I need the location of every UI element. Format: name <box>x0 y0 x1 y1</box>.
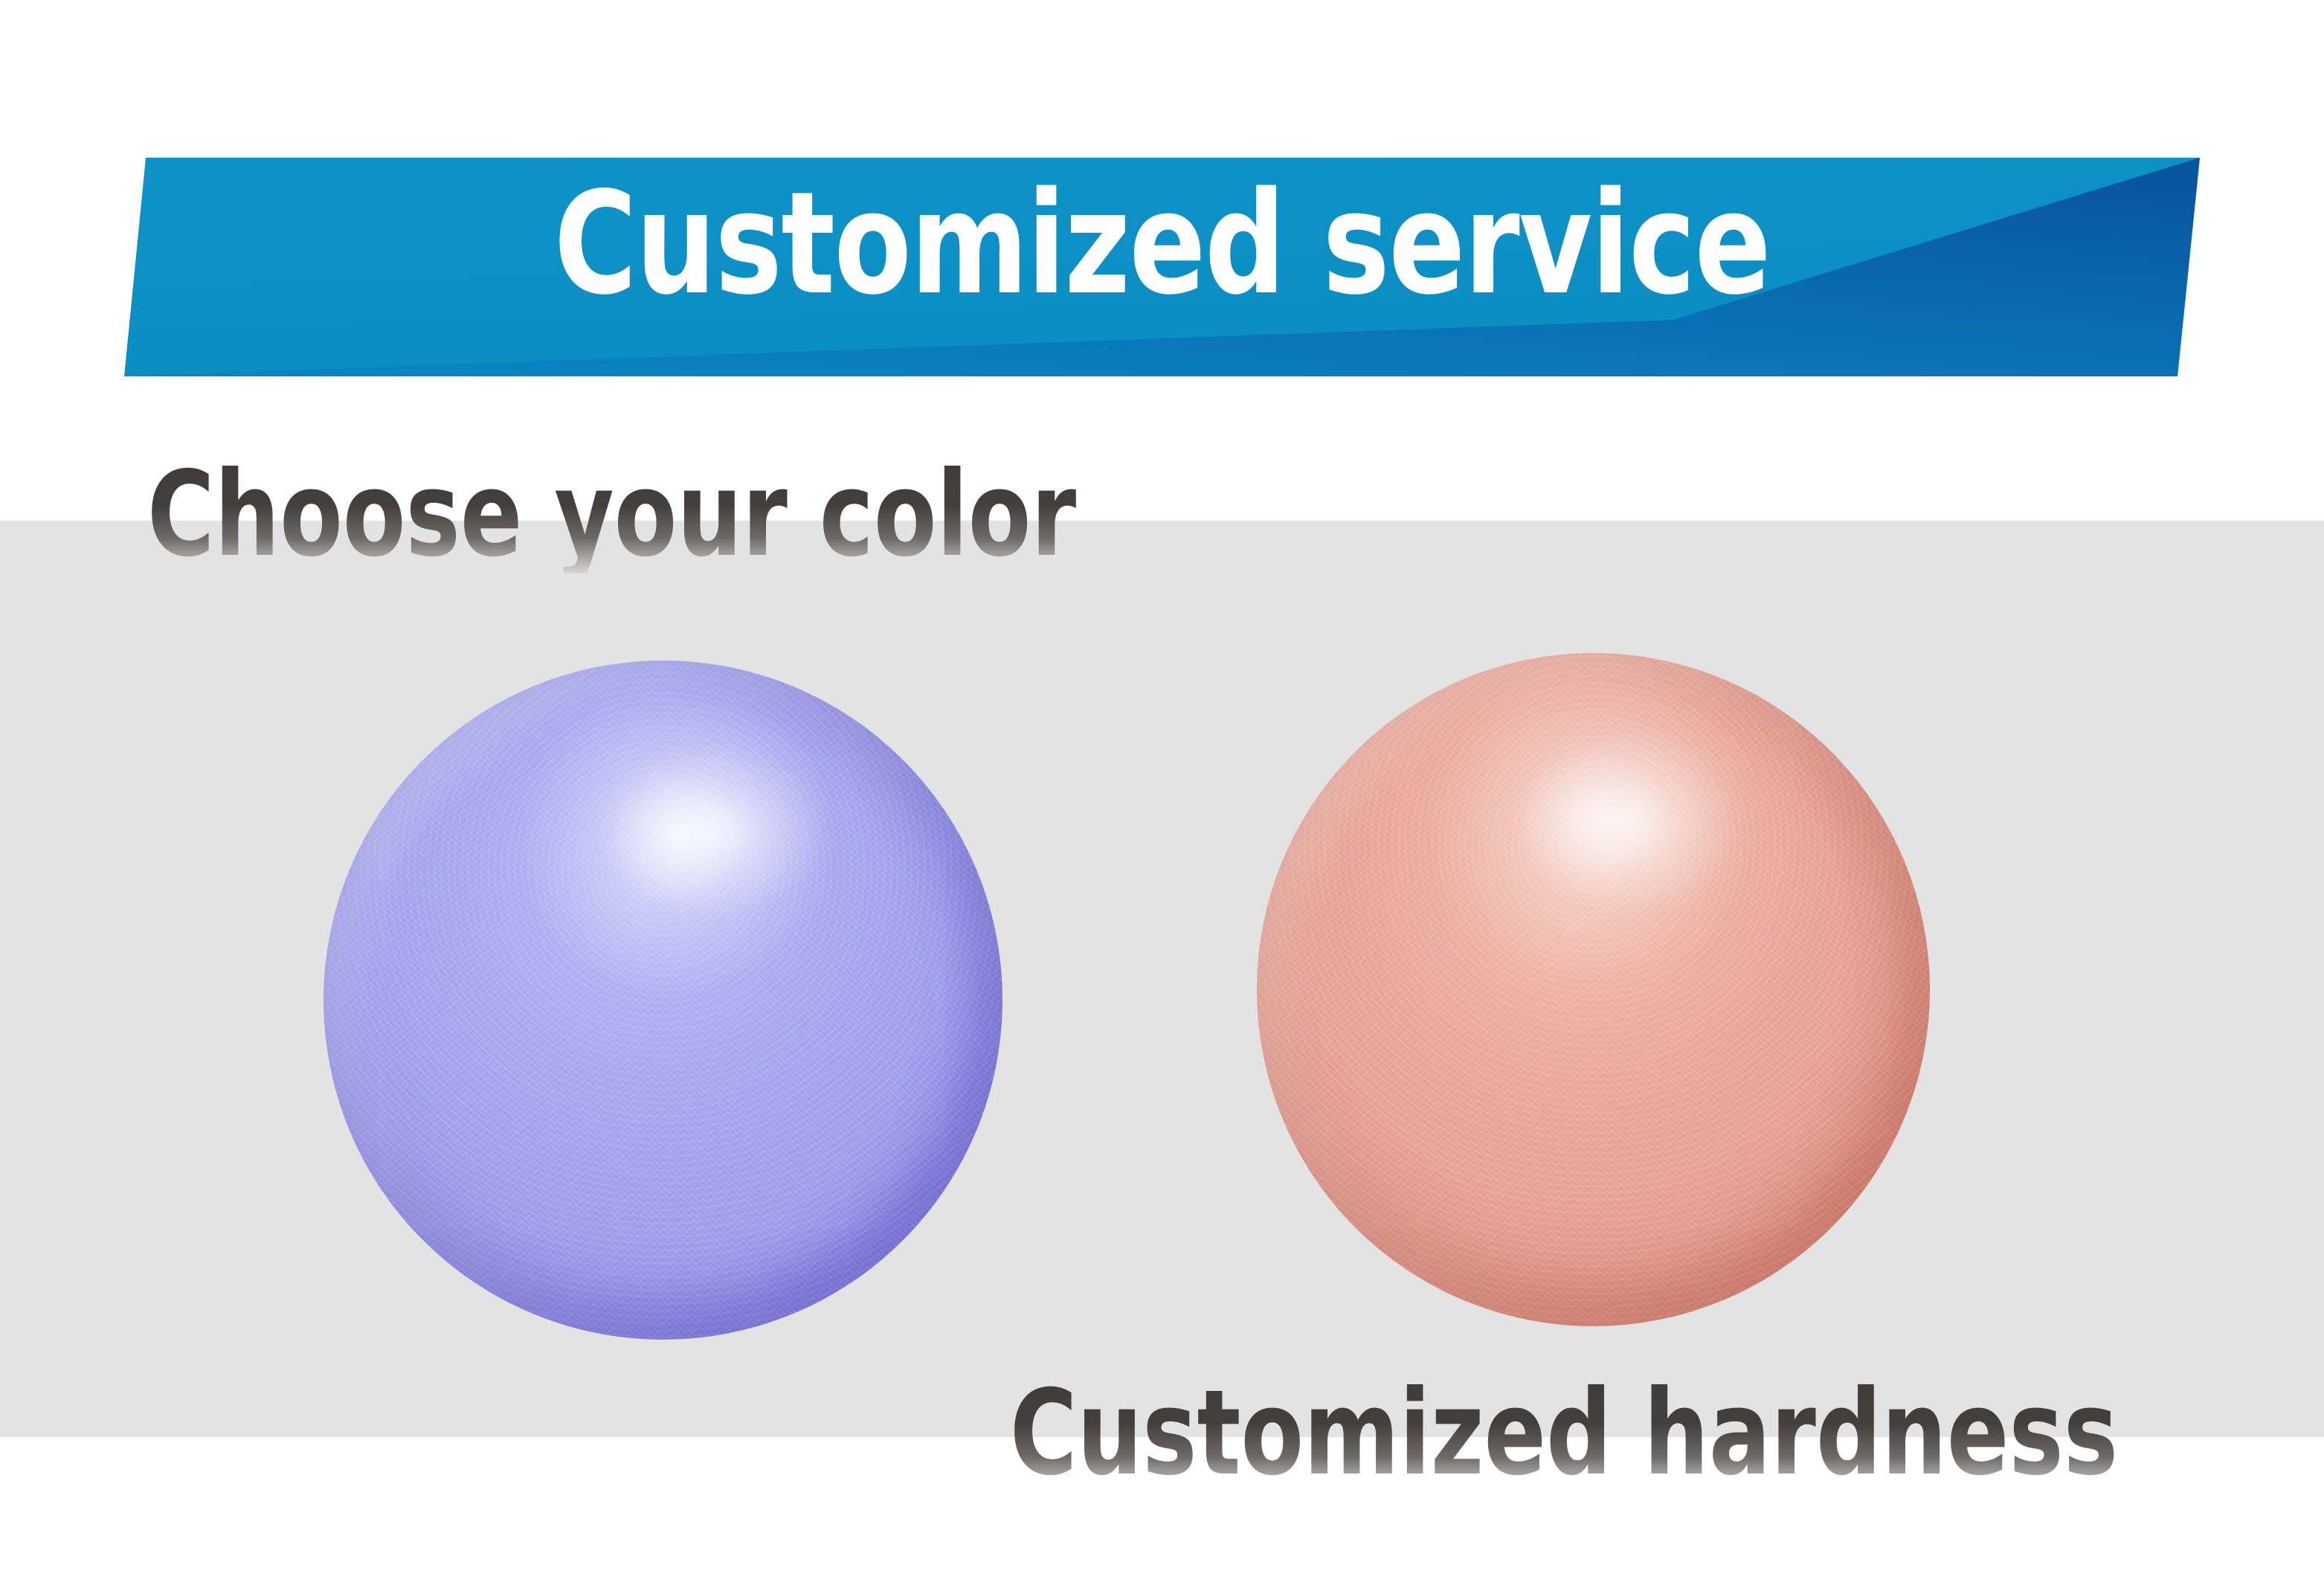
pink-ball-texture <box>1257 653 1930 1326</box>
blue-ball-surface <box>324 661 1002 1340</box>
heading-choose-your-color: Choose your color <box>147 456 1076 573</box>
blue-ball-texture <box>324 661 1002 1340</box>
banner-title: Customized service <box>233 173 2092 315</box>
blue-gel-stress-ball <box>324 661 1002 1340</box>
pink-gel-stress-ball <box>1257 653 1930 1326</box>
promo-banner-page: Customized service Choose your color Cus… <box>0 0 2324 1594</box>
pink-ball-surface <box>1257 653 1930 1326</box>
heading-customized-hardness: Customized hardness <box>1010 1375 2118 1492</box>
